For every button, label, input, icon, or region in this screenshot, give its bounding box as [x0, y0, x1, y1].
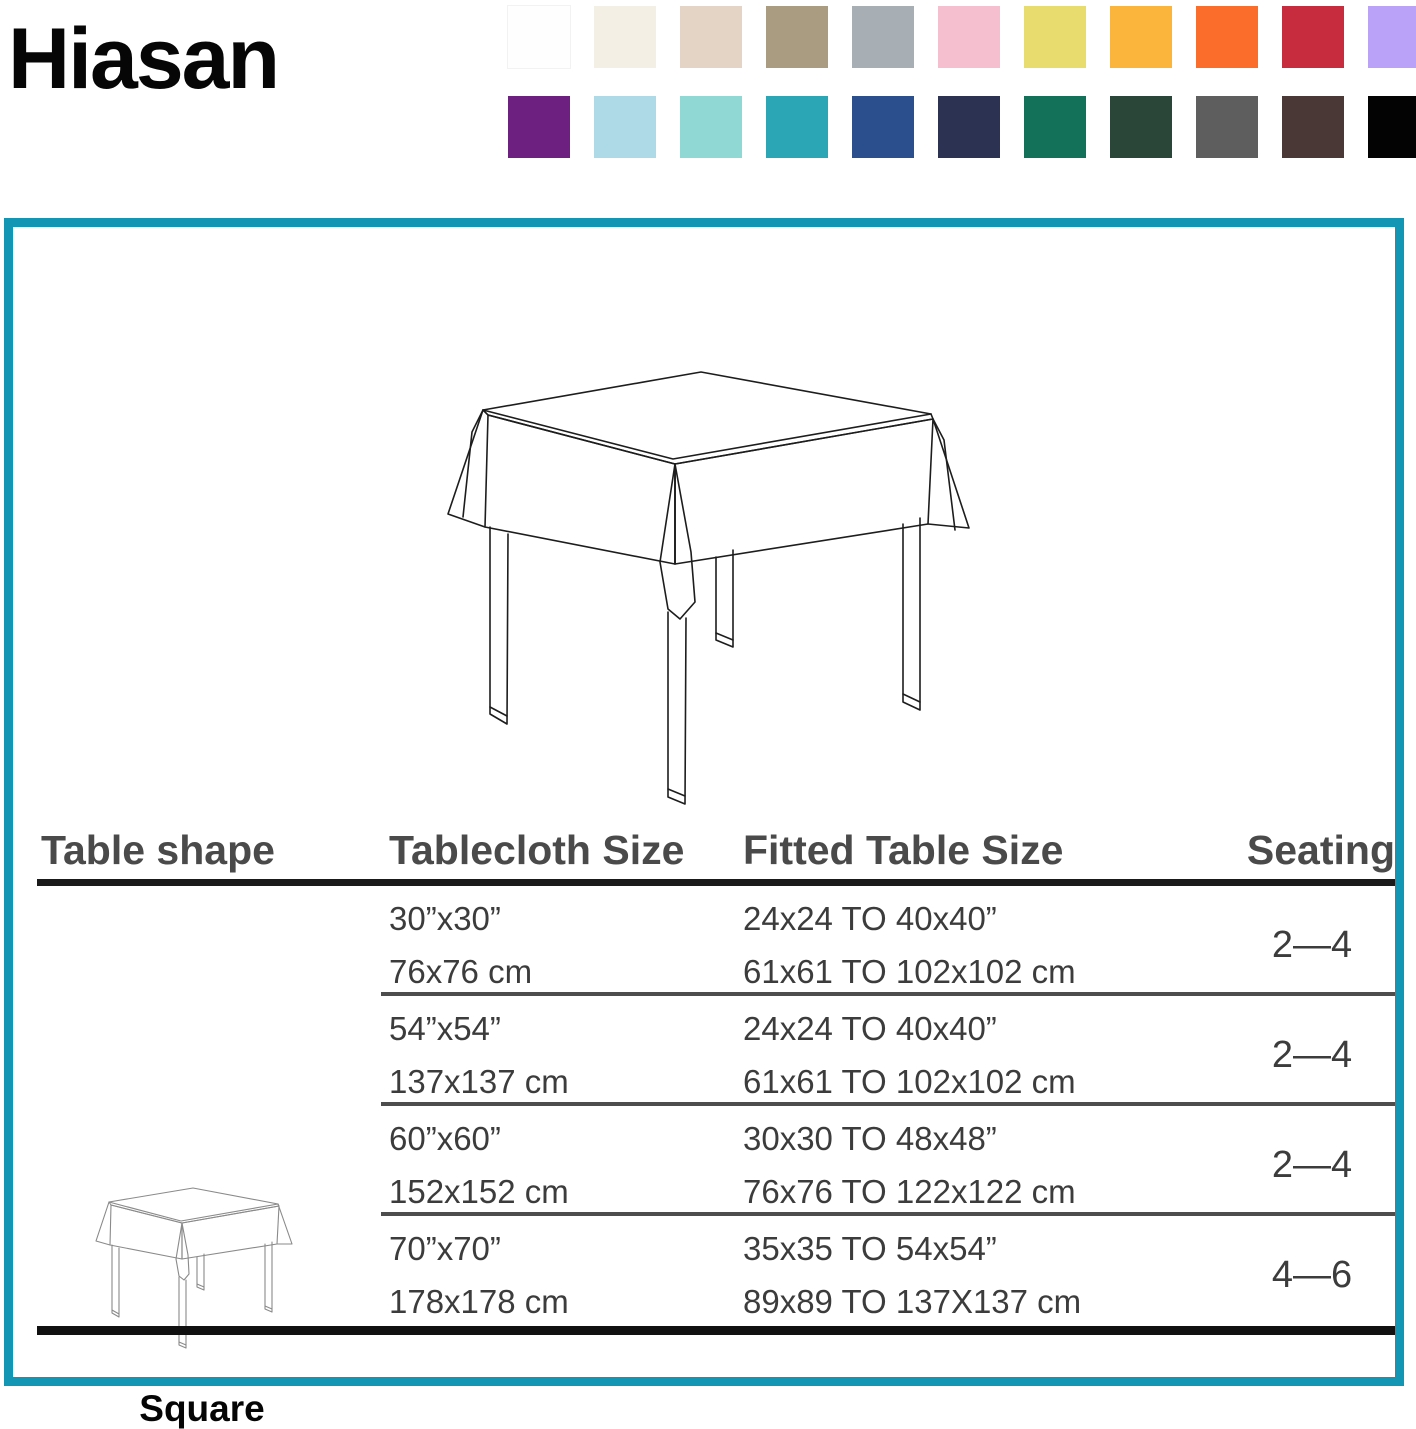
table-bottom-divider: [37, 1326, 1395, 1335]
cell-tablecloth-size-inches: 60”x60”: [389, 1122, 501, 1155]
cell-seating: 2—4: [1217, 1036, 1407, 1074]
cell-fitted-size-cm: 76x76 TO 122x122 cm: [743, 1175, 1076, 1208]
column-header-tablecloth-size: Tablecloth Size: [389, 830, 684, 871]
cell-tablecloth-size-cm: 137x137 cm: [389, 1065, 569, 1098]
cell-fitted-size-cm: 61x61 TO 102x102 cm: [743, 955, 1076, 988]
table-row: 54”x54” 137x137 cm 24x24 TO 40x40” 61x61…: [37, 996, 1395, 1102]
color-swatch-row-1: [508, 6, 1408, 68]
cell-fitted-size-inches: 35x35 TO 54x54”: [743, 1232, 997, 1265]
color-swatch-green[interactable]: [1024, 96, 1086, 158]
square-table-with-draped-tablecloth-illustration-icon: [428, 352, 998, 822]
cell-seating: 2—4: [1217, 926, 1407, 964]
color-swatch-light-blue[interactable]: [594, 96, 656, 158]
color-swatch-dark-brown[interactable]: [1282, 96, 1344, 158]
color-swatch-navy[interactable]: [938, 96, 1000, 158]
color-swatch-taupe[interactable]: [766, 6, 828, 68]
cell-seating: 2—4: [1217, 1146, 1407, 1184]
cell-fitted-size-inches: 24x24 TO 40x40”: [743, 1012, 997, 1045]
color-swatch-ivory[interactable]: [594, 6, 656, 68]
size-table: Table shape Tablecloth Size Fitted Table…: [37, 809, 1395, 1335]
color-swatch-dark-green[interactable]: [1110, 96, 1172, 158]
color-swatch-row-2: [508, 96, 1408, 158]
brand-header-strip: Hiasan: [0, 0, 1416, 215]
color-swatch-teal[interactable]: [766, 96, 828, 158]
table-shape-label-square: Square: [37, 1390, 367, 1427]
cell-fitted-size-inches: 24x24 TO 40x40”: [743, 902, 997, 935]
cell-tablecloth-size-inches: 54”x54”: [389, 1012, 501, 1045]
color-swatch-beige[interactable]: [680, 6, 742, 68]
color-swatch-aqua[interactable]: [680, 96, 742, 158]
size-chart-frame: Square Table shape Tablecloth Size Fitte…: [4, 218, 1404, 1386]
cell-tablecloth-size-cm: 152x152 cm: [389, 1175, 569, 1208]
column-header-fitted-table-size: Fitted Table Size: [743, 830, 1063, 871]
table-row: 30”x30” 76x76 cm 24x24 TO 40x40” 61x61 T…: [37, 886, 1395, 992]
color-swatch-purple[interactable]: [508, 96, 570, 158]
header-divider: [37, 879, 1395, 886]
column-header-seating: Seating: [1247, 830, 1395, 871]
color-swatch-orange[interactable]: [1196, 6, 1258, 68]
color-swatch-lavender[interactable]: [1368, 6, 1416, 68]
color-swatch-charcoal-gray[interactable]: [1196, 96, 1258, 158]
cell-tablecloth-size-inches: 70”x70”: [389, 1232, 501, 1265]
cell-tablecloth-size-cm: 76x76 cm: [389, 955, 532, 988]
color-swatch-pink[interactable]: [938, 6, 1000, 68]
cell-fitted-size-cm: 61x61 TO 102x102 cm: [743, 1065, 1076, 1098]
color-swatch-gold[interactable]: [1110, 6, 1172, 68]
color-swatch-red[interactable]: [1282, 6, 1344, 68]
color-swatch-yellow[interactable]: [1024, 6, 1086, 68]
color-swatch-white[interactable]: [508, 6, 570, 68]
color-swatch-panel: [508, 6, 1408, 170]
cell-seating: 4—6: [1217, 1256, 1407, 1294]
color-swatch-blue[interactable]: [852, 96, 914, 158]
cell-fitted-size-cm: 89x89 TO 137X137 cm: [743, 1285, 1081, 1318]
cell-tablecloth-size-cm: 178x178 cm: [389, 1285, 569, 1318]
column-header-table-shape: Table shape: [41, 830, 275, 871]
cell-fitted-size-inches: 30x30 TO 48x48”: [743, 1122, 997, 1155]
brand-logo: Hiasan: [8, 16, 278, 102]
color-swatch-black[interactable]: [1368, 96, 1416, 158]
table-header-row: Table shape Tablecloth Size Fitted Table…: [37, 809, 1395, 871]
table-row: 60”x60” 152x152 cm 30x30 TO 48x48” 76x76…: [37, 1106, 1395, 1212]
color-swatch-gray[interactable]: [852, 6, 914, 68]
table-row: 70”x70” 178x178 cm 35x35 TO 54x54” 89x89…: [37, 1216, 1395, 1322]
cell-tablecloth-size-inches: 30”x30”: [389, 902, 501, 935]
